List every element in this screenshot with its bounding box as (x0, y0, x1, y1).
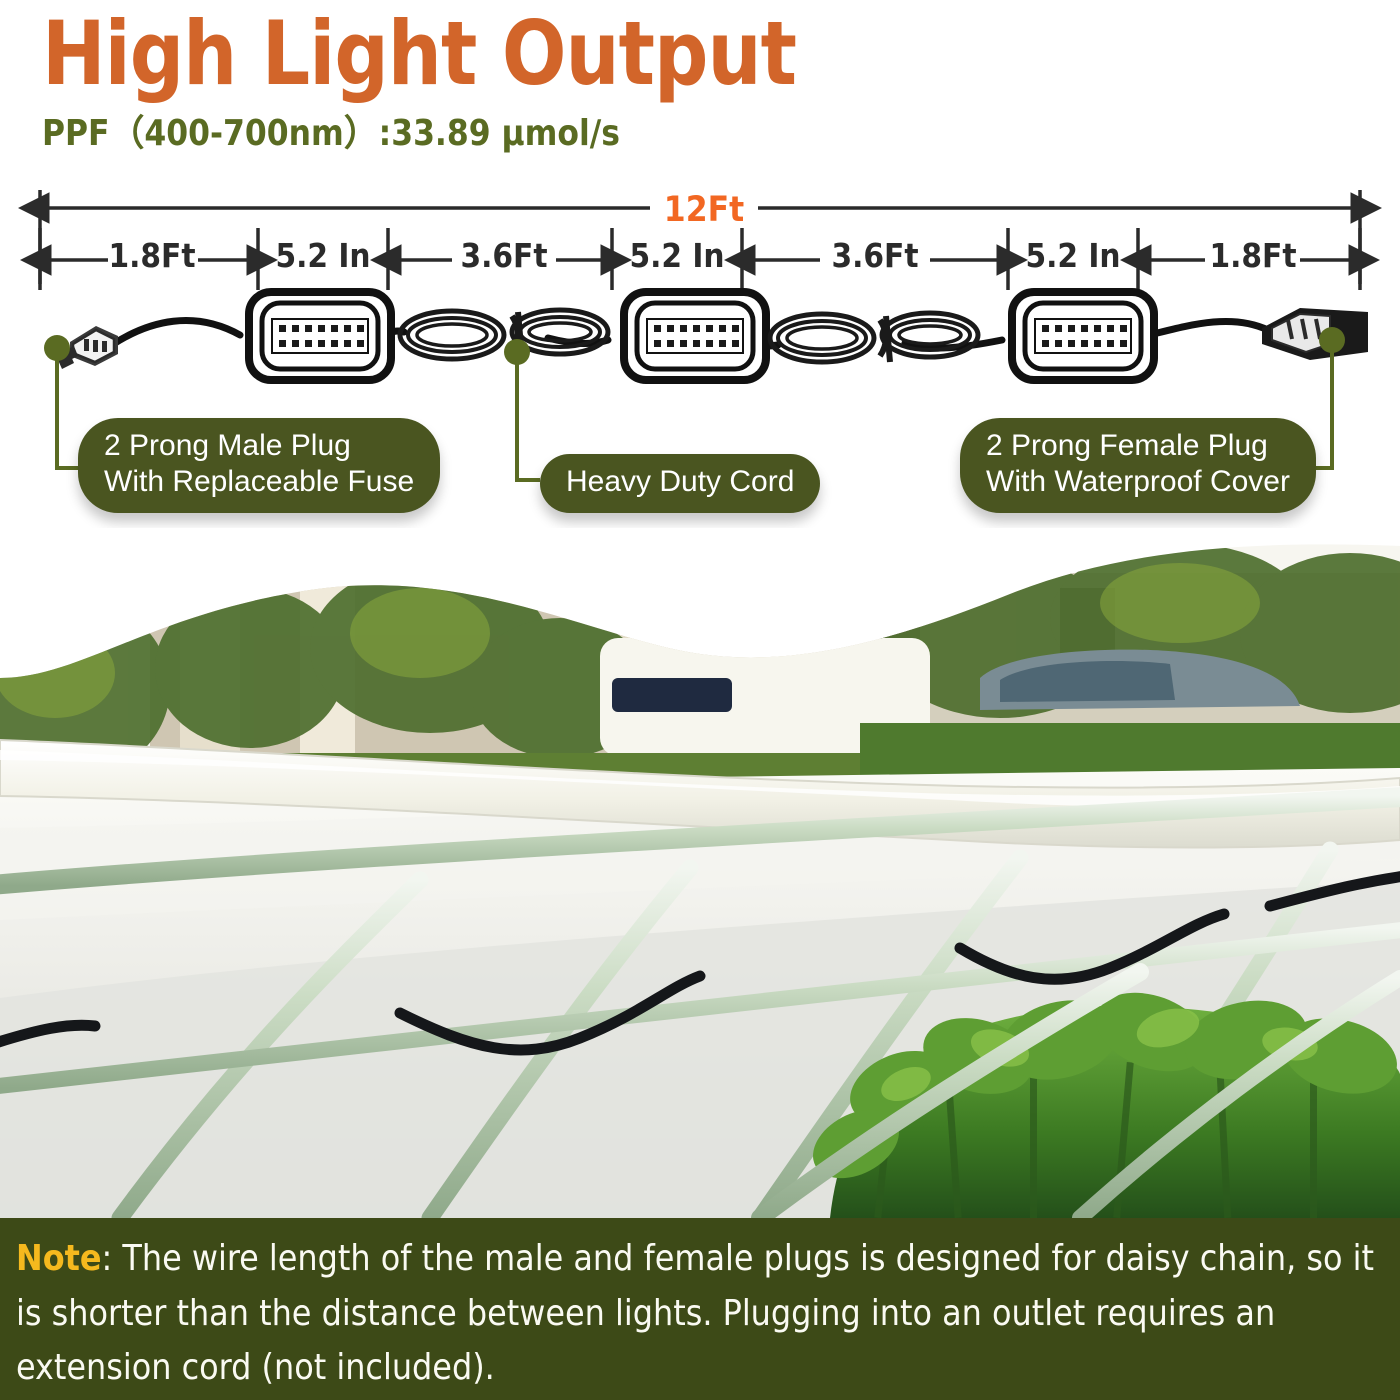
ppf-spec-text: PPF（400-700nm）:33.89 µmol/s (42, 104, 620, 156)
segment-label-0: 1.8Ft (108, 236, 195, 275)
callout-male-plug-line1: 2 Prong Male Plug (104, 429, 351, 462)
led-fixture-1 (249, 292, 391, 380)
callout-male-plug-line2: With Replaceable Fuse (104, 465, 414, 498)
segment-label-2: 3.6Ft (460, 236, 547, 275)
led-fixture-3 (1012, 292, 1154, 380)
greenhouse-photo-illustration (0, 528, 1400, 1218)
total-length-label: 12Ft (664, 190, 744, 230)
callout-male-plug: 2 Prong Male PlugWith Replaceable Fuse (78, 418, 440, 513)
note-keyword: Note (16, 1238, 102, 1279)
segment-label-3: 5.2 In (629, 236, 724, 275)
callout-cord: Heavy Duty Cord (540, 454, 820, 513)
led-fixture-2 (624, 292, 766, 380)
callout-female-plug-line2: With Waterproof Cover (986, 465, 1290, 498)
segment-label-5: 5.2 In (1025, 236, 1120, 275)
segment-label-1: 5.2 In (275, 236, 370, 275)
product-line-art (58, 292, 1368, 380)
product-photo (0, 528, 1400, 1218)
page-title: High Light Output (42, 2, 796, 105)
header-block: High Light Output PPF（400-700nm）:33.89 µ… (0, 0, 1400, 175)
product-infographic: High Light Output PPF（400-700nm）:33.89 µ… (0, 0, 1400, 1400)
dimension-diagram: 12Ft 1.8Ft 5.2 In 3.6Ft 5.2 In 3.6Ft 5.2… (0, 180, 1400, 510)
coiled-cord-1 (400, 310, 608, 359)
segment-label-4: 3.6Ft (831, 236, 918, 275)
callout-female-plug: 2 Prong Female PlugWith Waterproof Cover (960, 418, 1316, 513)
note-bar: Note: The wire length of the male and fe… (0, 1218, 1400, 1400)
coiled-cord-2 (770, 313, 978, 362)
note-text: Note: The wire length of the male and fe… (16, 1232, 1387, 1396)
callout-female-plug-line1: 2 Prong Female Plug (986, 429, 1268, 462)
callout-cord-line1: Heavy Duty Cord (566, 465, 794, 498)
note-body: : The wire length of the male and female… (16, 1238, 1374, 1388)
female-plug-art (1262, 308, 1368, 360)
segment-label-6: 1.8Ft (1209, 236, 1296, 275)
